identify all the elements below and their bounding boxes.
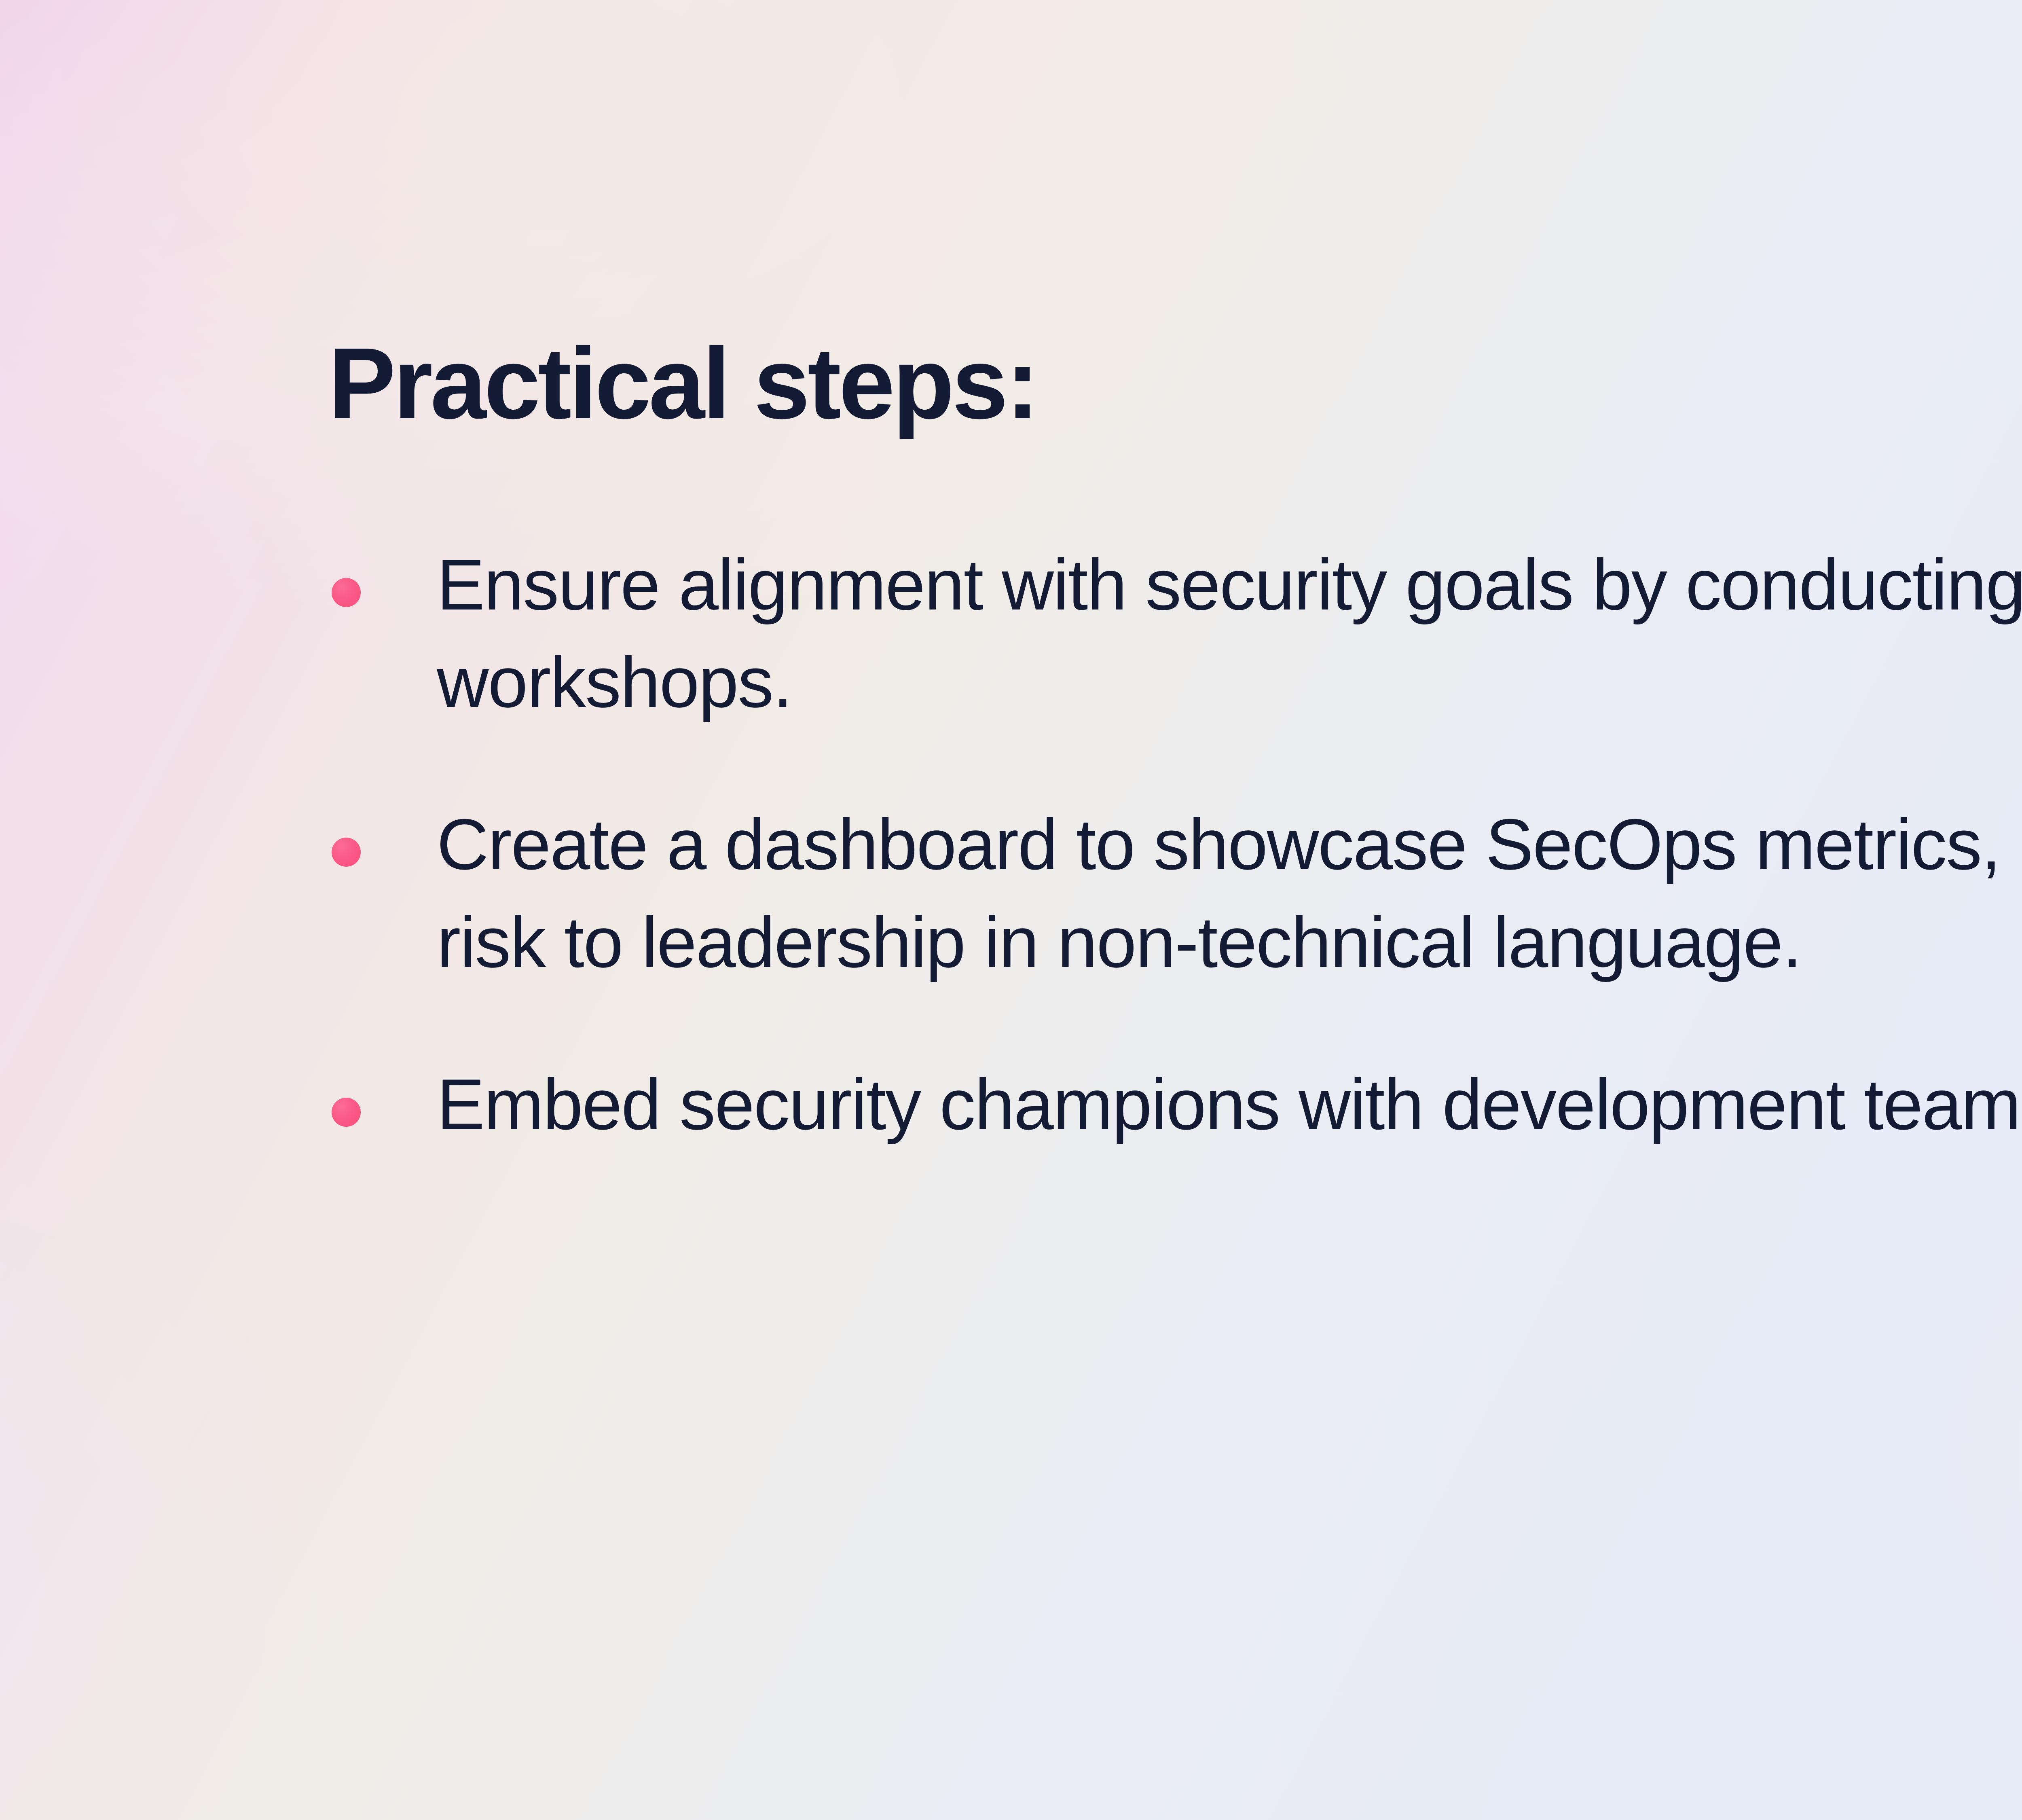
- bullet-dot-icon: [332, 1098, 361, 1127]
- list-item-text: Ensure alignment with security goals by …: [437, 536, 2022, 731]
- bullet-list: Ensure alignment with security goals by …: [328, 536, 2022, 1153]
- list-item: Embed security champions with developmen…: [328, 1056, 2022, 1153]
- list-item: Create a dashboard to showcase SecOps me…: [328, 796, 2022, 990]
- bullet-dot-icon: [332, 838, 361, 867]
- list-item-text: Embed security champions with developmen…: [437, 1056, 2022, 1153]
- list-item-text: Create a dashboard to showcase SecOps me…: [437, 796, 2022, 990]
- bullet-dot-icon: [332, 578, 361, 607]
- slide-content: Practical steps: Ensure alignment with s…: [0, 0, 2022, 1820]
- slide-canvas: Practical steps: Ensure alignment with s…: [0, 0, 2022, 1820]
- slide-title: Practical steps:: [328, 329, 1037, 438]
- list-item: Ensure alignment with security goals by …: [328, 536, 2022, 731]
